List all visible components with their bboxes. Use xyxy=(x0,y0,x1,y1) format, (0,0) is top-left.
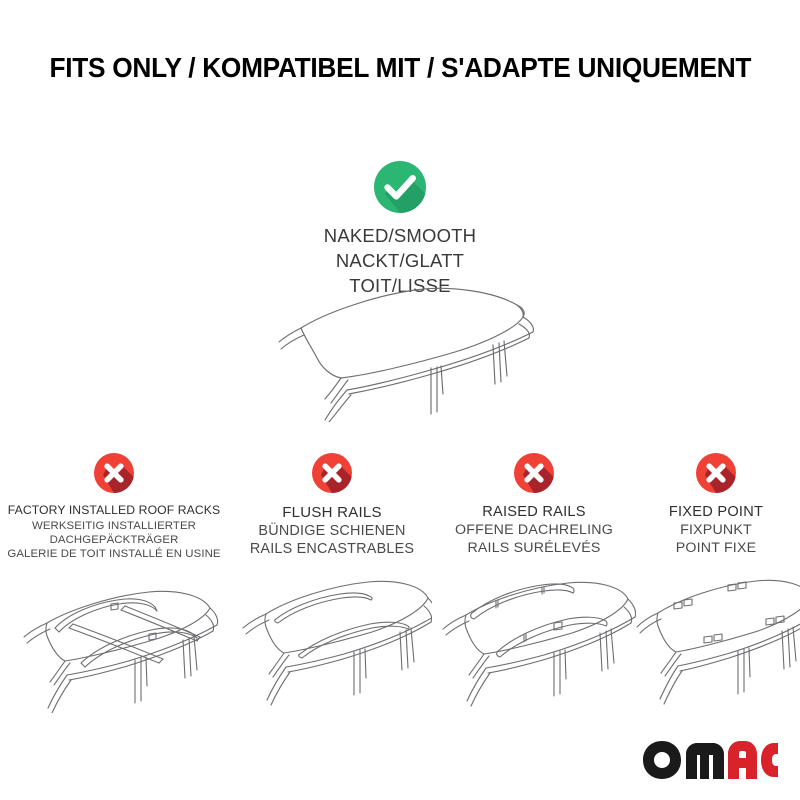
label-de: OFFENE DACHRELING xyxy=(455,522,613,540)
logo-letter-a xyxy=(728,741,757,779)
label-de-2: DACHGEPÄCKTRÄGER xyxy=(7,533,220,547)
x-circle-icon xyxy=(311,452,353,494)
label-fr: GALERIE DE TOIT INSTALLÉ EN USINE xyxy=(7,547,220,561)
incompatible-item-fixed-point: FIXED POINT FIXPUNKT POINT FIXE xyxy=(632,452,800,713)
label-de: FIXPUNKT xyxy=(669,522,763,540)
incompatible-labels: FIXED POINT FIXPUNKT POINT FIXE xyxy=(669,503,763,557)
incompatible-labels: FLUSH RAILS BÜNDIGE SCHIENEN RAILS ENCAS… xyxy=(250,503,414,558)
label-fr: POINT FIXE xyxy=(669,540,763,558)
x-circle-icon xyxy=(513,452,555,494)
incompatible-labels: RAISED RAILS OFFENE DACHRELING RAILS SUR… xyxy=(455,503,613,557)
compatible-label-en: NAKED/SMOOTH xyxy=(0,224,800,249)
page-title-text: FITS ONLY / KOMPATIBEL MIT / S'ADAPTE UN… xyxy=(49,52,751,84)
label-en: FIXED POINT xyxy=(669,503,763,522)
incompatible-item-factory-installed-roof-racks: FACTORY INSTALLED ROOF RACKS WERKSEITIG … xyxy=(0,452,228,718)
incompatible-row: FACTORY INSTALLED ROOF RACKS WERKSEITIG … xyxy=(0,452,800,718)
factory-rack-roof-illustration xyxy=(0,568,228,718)
incompatible-item-raised-rails: RAISED RAILS OFFENE DACHRELING RAILS SUR… xyxy=(436,452,632,713)
label-de: BÜNDIGE SCHIENEN xyxy=(250,522,414,540)
flush-rail-roof-illustration xyxy=(228,564,436,714)
label-fr: RAILS ENCASTRABLES xyxy=(250,540,414,558)
logo-letter-o xyxy=(643,741,681,779)
fixed-point-roof-illustration xyxy=(632,563,800,713)
incompatible-labels: FACTORY INSTALLED ROOF RACKS WERKSEITIG … xyxy=(7,503,220,562)
label-de-1: WERKSEITIG INSTALLIERTER xyxy=(7,519,220,533)
label-en: FACTORY INSTALLED ROOF RACKS xyxy=(7,503,220,519)
label-en: RAISED RAILS xyxy=(455,503,613,522)
logo-letter-m xyxy=(686,743,724,779)
smooth-roof-illustration xyxy=(255,272,575,422)
raised-rail-roof-illustration xyxy=(436,563,632,713)
omac-logo xyxy=(640,738,778,782)
page-title: FITS ONLY / KOMPATIBEL MIT / S'ADAPTE UN… xyxy=(0,52,800,84)
label-fr: RAILS SURÉLEVÉS xyxy=(455,540,613,558)
x-circle-icon xyxy=(695,452,737,494)
check-circle-icon xyxy=(373,160,427,214)
x-circle-icon xyxy=(93,452,135,494)
compatible-label-de: NACKT/GLATT xyxy=(0,249,800,274)
logo-letter-c xyxy=(761,743,778,777)
label-en: FLUSH RAILS xyxy=(250,503,414,522)
incompatible-item-flush-rails: FLUSH RAILS BÜNDIGE SCHIENEN RAILS ENCAS… xyxy=(228,452,436,714)
